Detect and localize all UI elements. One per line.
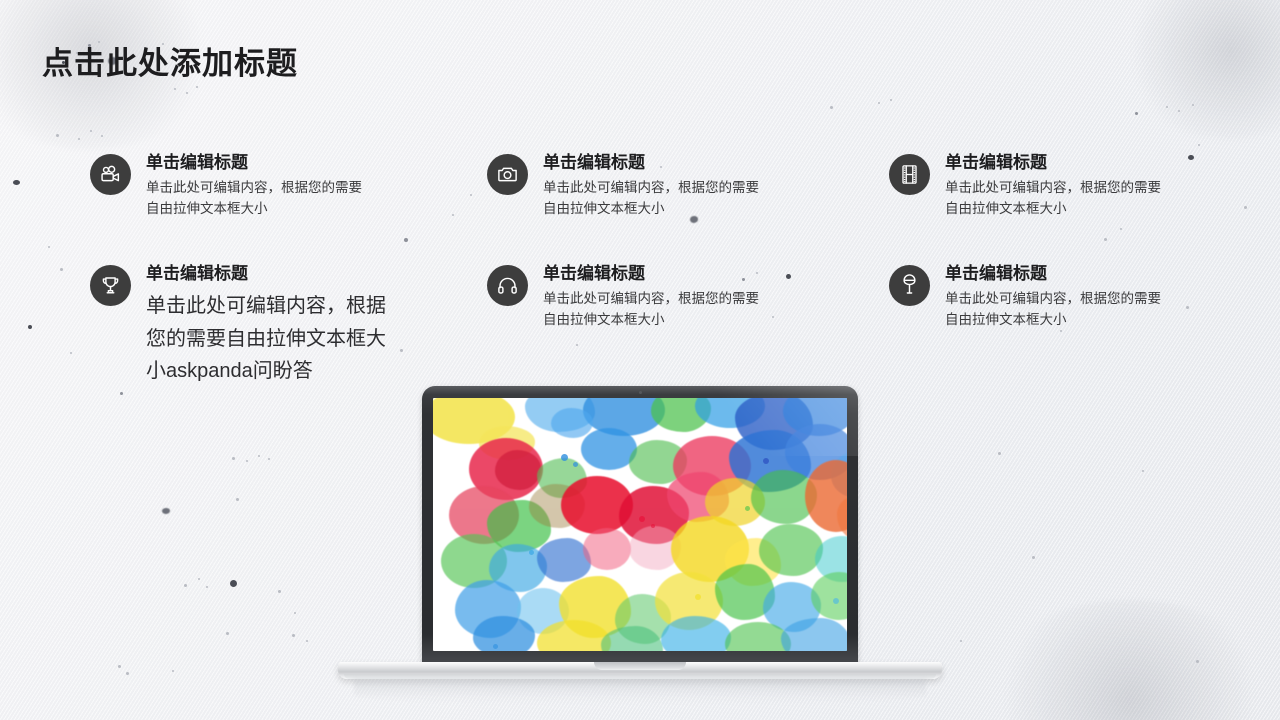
feature-body: 单击此处可编辑内容，根据您的需要自由拉伸文本框大小 [543, 289, 765, 331]
film-strip-icon [889, 154, 930, 195]
feature-text-block: 单击编辑标题 单击此处可编辑内容，根据您的需要自由拉伸文本框大小 [945, 263, 1167, 331]
page-title: 点击此处添加标题 [42, 38, 298, 83]
feature-body: 单击此处可编辑内容，根据您的需要自由拉伸文本框大小 [146, 178, 368, 220]
feature-text-block: 单击编辑标题 单击此处可编辑内容，根据您的需要自由拉伸文本框大小 [543, 263, 765, 331]
feature-heading: 单击编辑标题 [945, 152, 1167, 173]
feature-heading: 单击编辑标题 [945, 263, 1167, 284]
feature-text-block: 单击编辑标题 单击此处可编辑内容，根据您的需要自由拉伸文本框大小askpanda… [146, 263, 398, 387]
feature-text-block: 单击编辑标题 单击此处可编辑内容，根据您的需要自由拉伸文本框大小 [945, 152, 1167, 220]
feature-item-6[interactable]: 单击编辑标题 单击此处可编辑内容，根据您的需要自由拉伸文本框大小 [889, 263, 1167, 331]
trophy-icon [90, 265, 131, 306]
feature-body: 单击此处可编辑内容，根据您的需要自由拉伸文本框大小 [945, 289, 1167, 331]
feature-text-block: 单击编辑标题 单击此处可编辑内容，根据您的需要自由拉伸文本框大小 [146, 152, 368, 220]
laptop-screen [433, 398, 847, 651]
feature-heading: 单击编辑标题 [146, 263, 398, 284]
feature-body: 单击此处可编辑内容，根据您的需要自由拉伸文本框大小 [543, 178, 765, 220]
webcam-icon [639, 391, 642, 394]
feature-item-3[interactable]: 单击编辑标题 单击此处可编辑内容，根据您的需要自由拉伸文本框大小 [889, 152, 1167, 220]
camera-icon [487, 154, 528, 195]
feature-body: 单击此处可编辑内容，根据您的需要自由拉伸文本框大小askpanda问盼答 [146, 290, 398, 387]
feature-item-1[interactable]: 单击编辑标题 单击此处可编辑内容，根据您的需要自由拉伸文本框大小 [90, 152, 368, 220]
feature-item-4[interactable]: 单击编辑标题 单击此处可编辑内容，根据您的需要自由拉伸文本框大小askpanda… [90, 263, 398, 387]
feature-item-2[interactable]: 单击编辑标题 单击此处可编辑内容，根据您的需要自由拉伸文本框大小 [487, 152, 765, 220]
laptop-mockup [338, 386, 942, 706]
laptop-lid [422, 386, 858, 668]
slide-canvas: 点击此处添加标题 单击编辑标题 单击此处可编辑内容，根据您的需要自由拉伸文本框大… [0, 0, 1280, 720]
headphones-icon [487, 265, 528, 306]
base-notch [594, 662, 686, 670]
feature-heading: 单击编辑标题 [543, 152, 765, 173]
microphone-icon [889, 265, 930, 306]
feature-body: 单击此处可编辑内容，根据您的需要自由拉伸文本框大小 [945, 178, 1167, 220]
feature-heading: 单击编辑标题 [543, 263, 765, 284]
feature-text-block: 单击编辑标题 单击此处可编辑内容，根据您的需要自由拉伸文本框大小 [543, 152, 765, 220]
laptop-base [338, 662, 942, 679]
video-camera-icon [90, 154, 131, 195]
laptop-reflection [354, 679, 926, 705]
feature-heading: 单击编辑标题 [146, 152, 368, 173]
feature-item-5[interactable]: 单击编辑标题 单击此处可编辑内容，根据您的需要自由拉伸文本框大小 [487, 263, 765, 331]
